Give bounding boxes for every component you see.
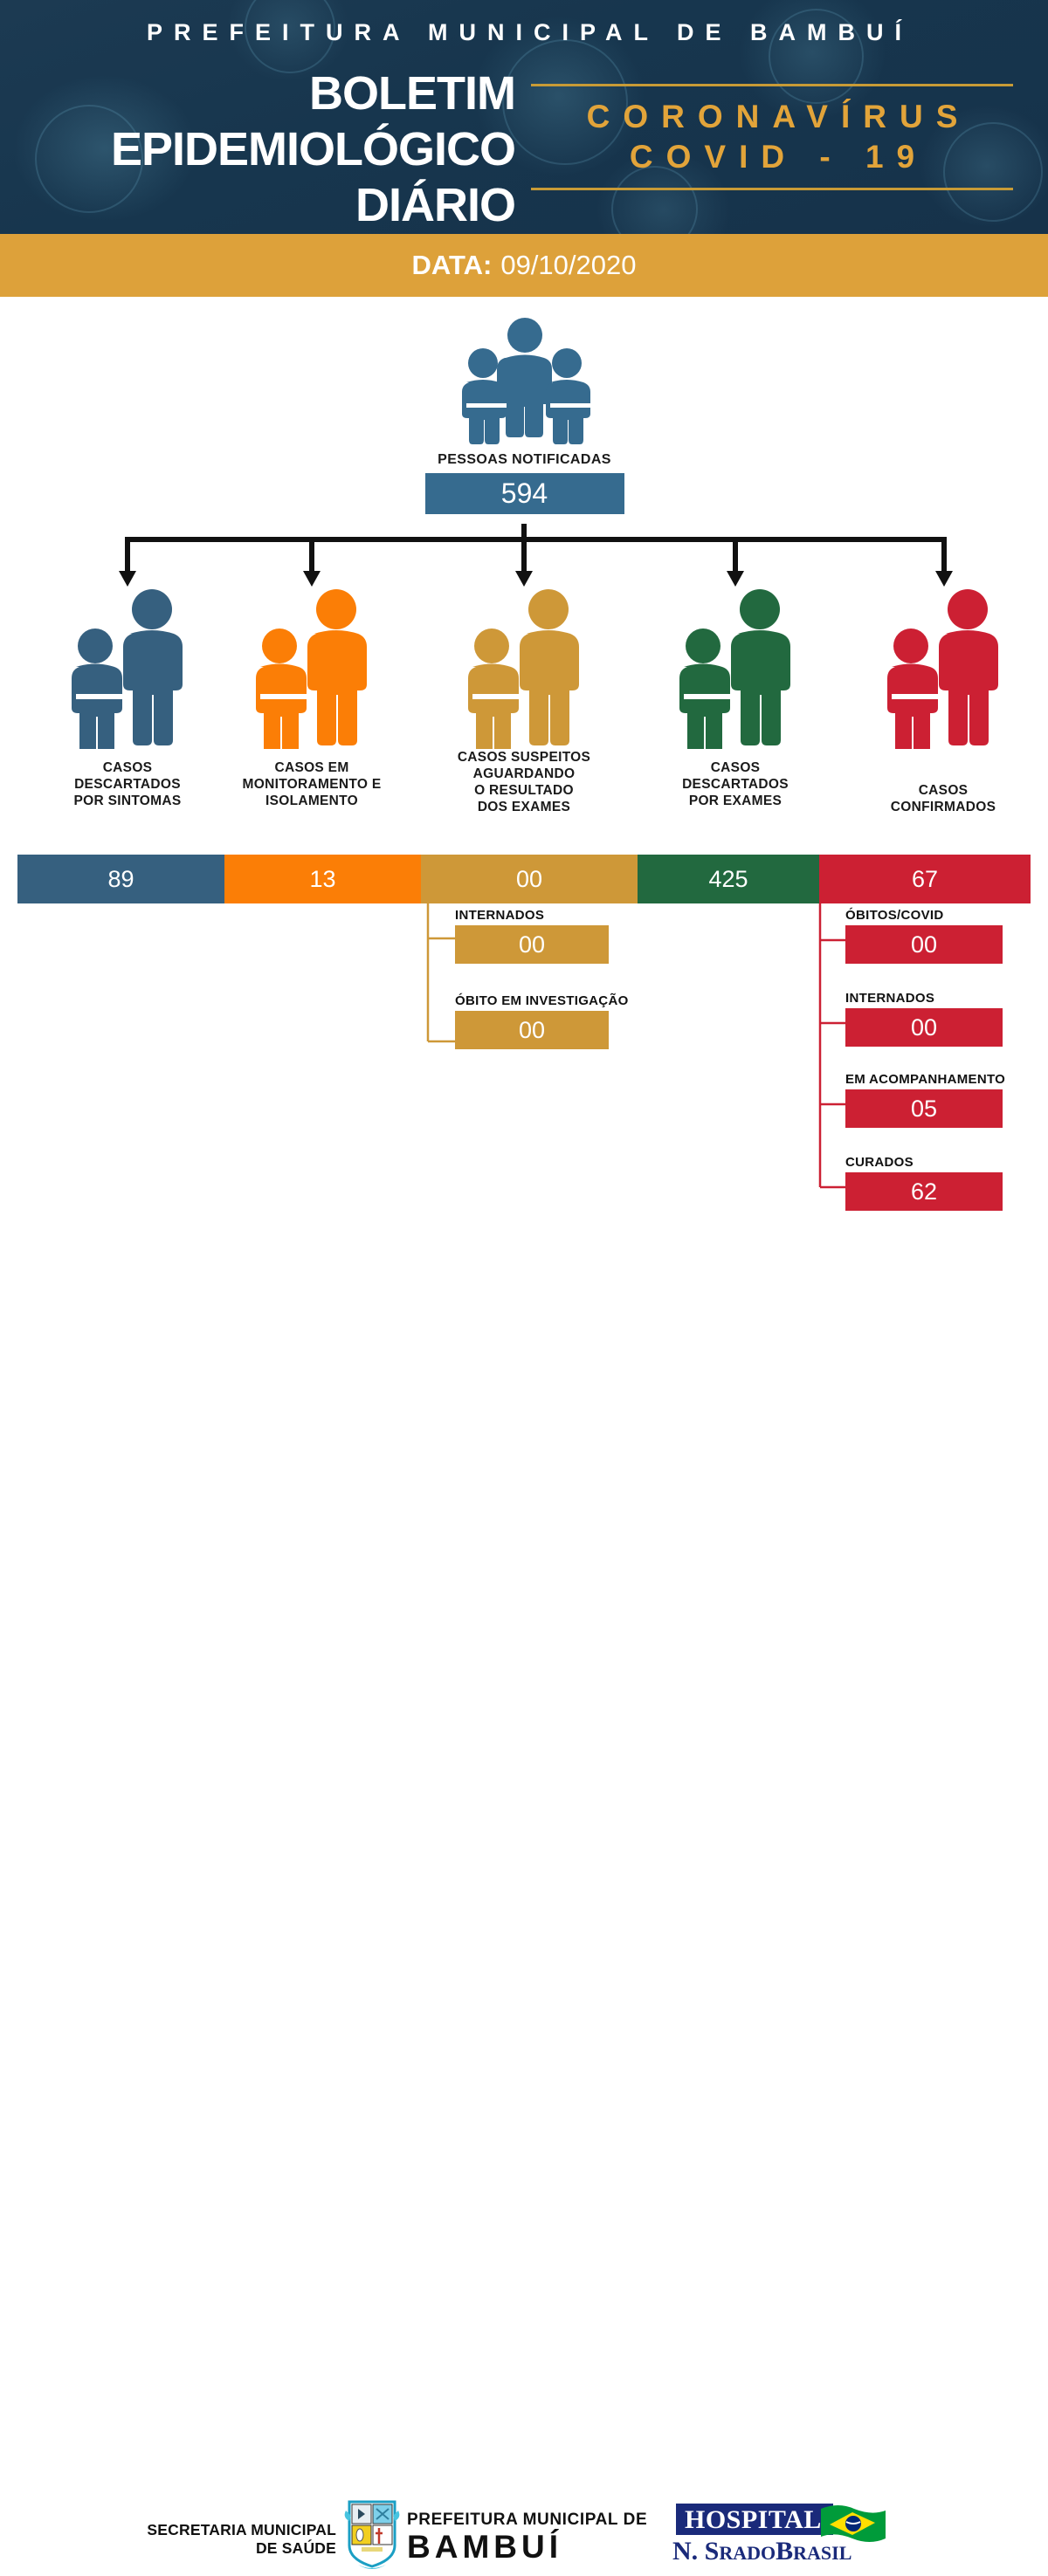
- category-label-line: CASOS: [31, 759, 224, 776]
- health-secretary-logo-text: SECRETARIA MUNICIPAL DE SAÚDE: [122, 2521, 336, 2558]
- covid-subtitle-line-2: COVID - 19: [531, 137, 1013, 177]
- health-secretary-line-1: SECRETARIA MUNICIPAL: [122, 2521, 336, 2539]
- gold-divider-bottom: [531, 188, 1013, 190]
- notified-people-node: PESSOAS NOTIFICADAS 594: [417, 316, 631, 514]
- suspect-detail-obito-investigacao: ÓBITO EM INVESTIGAÇÃO 00: [455, 993, 609, 1049]
- category-label-line: CASOS: [639, 759, 831, 776]
- date-label: DATA:: [412, 250, 493, 281]
- confirmed-detail-value: 62: [845, 1172, 1003, 1211]
- health-secretary-line-2: DE SAÚDE: [122, 2539, 336, 2558]
- brazil-flag-icon: [817, 2502, 887, 2547]
- category-label-line: DESCARTADOS: [639, 776, 831, 793]
- confirmed-detail-obitos-covid: ÓBITOS/COVID 00: [845, 908, 1003, 964]
- page-title: BOLETIM EPIDEMIOLÓGICO DIÁRIO: [26, 65, 515, 233]
- confirmed-detail-value: 05: [845, 1089, 1003, 1128]
- covid-subtitle-line-1: CORONAVÍRUS: [531, 97, 1013, 137]
- value-bar-discarded-exams: 425: [638, 855, 819, 903]
- category-label-line: MONITORAMENTO E: [216, 776, 408, 793]
- suspect-detail-label: ÓBITO EM INVESTIGAÇÃO: [455, 993, 609, 1008]
- category-suspect-awaiting-results: CASOS SUSPEITOS AGUARDANDO O RESULTADO D…: [428, 583, 620, 815]
- organization-title: PREFEITURA MUNICIPAL DE BAMBUÍ: [0, 19, 1048, 46]
- category-label: CASOS SUSPEITOS AGUARDANDO O RESULTADO D…: [428, 749, 620, 815]
- category-label-line: AGUARDANDO: [428, 766, 620, 782]
- two-people-icon: [639, 583, 831, 749]
- two-people-icon: [31, 583, 224, 749]
- confirmed-detail-internados: INTERNADOS 00: [845, 991, 1003, 1047]
- city-hall-line-1: PREFEITURA MUNICIPAL DE: [407, 2511, 652, 2530]
- confirmed-detail-curados: CURADOS 62: [845, 1155, 1003, 1211]
- suspect-detail-value: 00: [455, 925, 609, 964]
- city-hall-logo-text: PREFEITURA MUNICIPAL DE BAMBUÍ: [407, 2511, 652, 2565]
- category-label-line: DOS EXAMES: [428, 799, 620, 815]
- covid-subtitle-block: CORONAVÍRUS COVID - 19: [531, 84, 1013, 190]
- confirmed-detail-label: EM ACOMPANHAMENTO: [845, 1072, 1003, 1087]
- category-label: CASOS DESCARTADOS POR EXAMES: [639, 759, 831, 809]
- two-people-icon: [216, 583, 408, 749]
- bambui-coat-of-arms-icon: [341, 2488, 403, 2572]
- hospital-sub-d: B: [776, 2537, 793, 2566]
- category-label-line: CASOS SUSPEITOS: [428, 749, 620, 766]
- category-confirmed: CASOS CONFIRMADOS: [847, 583, 1039, 815]
- value-bar-discarded-symptoms: 89: [17, 855, 224, 903]
- people-group-icon: [417, 316, 631, 447]
- confirmed-detail-em-acompanhamento: EM ACOMPANHAMENTO 05: [845, 1072, 1003, 1128]
- category-label-line: CASOS: [847, 782, 1039, 799]
- confirmed-detail-value: 00: [845, 925, 1003, 964]
- date-value: 09/10/2020: [500, 250, 636, 281]
- category-label-line: POR SINTOMAS: [31, 793, 224, 809]
- two-people-icon: [847, 583, 1039, 749]
- two-people-icon: [428, 583, 620, 749]
- page-title-line-1: BOLETIM: [26, 65, 515, 121]
- value-bar-confirmed: 67: [819, 855, 1031, 903]
- value-bar-row: 89 13 00 425 67: [17, 855, 1031, 903]
- hospital-sub-a: N. S: [672, 2537, 719, 2566]
- category-label-line: ISOLAMENTO: [216, 793, 408, 809]
- category-discarded-symptoms: CASOS DESCARTADOS POR SINTOMAS: [31, 583, 224, 809]
- confirmed-detail-value: 00: [845, 1008, 1003, 1047]
- category-label-line: CASOS EM: [216, 759, 408, 776]
- category-label-line: POR EXAMES: [639, 793, 831, 809]
- page-title-line-2: EPIDEMIOLÓGICO: [26, 121, 515, 177]
- category-label: CASOS DESCARTADOS POR SINTOMAS: [31, 759, 224, 809]
- category-label: CASOS EM MONITORAMENTO E ISOLAMENTO: [216, 759, 408, 809]
- notified-people-value: 594: [425, 473, 624, 514]
- category-discarded-exams: CASOS DESCARTADOS POR EXAMES: [639, 583, 831, 809]
- hospital-sub-b: RA: [719, 2542, 747, 2564]
- category-label: CASOS CONFIRMADOS: [847, 782, 1039, 815]
- category-label-line: CONFIRMADOS: [847, 799, 1039, 815]
- suspect-detail-internados: INTERNADOS 00: [455, 908, 609, 964]
- suspect-detail-label: INTERNADOS: [455, 908, 609, 923]
- category-monitoring-isolation: CASOS EM MONITORAMENTO E ISOLAMENTO: [216, 583, 408, 809]
- category-row: CASOS DESCARTADOS POR SINTOMAS CASOS EM …: [0, 583, 1048, 845]
- confirmed-detail-label: CURADOS: [845, 1155, 1003, 1170]
- hospital-sub-c: DO: [747, 2542, 776, 2564]
- gold-divider-top: [531, 84, 1013, 86]
- page-header: PREFEITURA MUNICIPAL DE BAMBUÍ BOLETIM E…: [0, 0, 1048, 234]
- hospital-logo-word: HOSPITAL: [685, 2505, 822, 2535]
- page-footer: SECRETARIA MUNICIPAL DE SAÚDE PREFEITURA…: [0, 1238, 1048, 1340]
- confirmed-detail-label: ÓBITOS/COVID: [845, 908, 1003, 923]
- value-bar-monitoring-isolation: 13: [224, 855, 421, 903]
- suspect-detail-value: 00: [455, 1011, 609, 1049]
- category-label-line: O RESULTADO: [428, 782, 620, 799]
- page-title-line-3: DIÁRIO: [26, 177, 515, 233]
- category-label-line: DESCARTADOS: [31, 776, 224, 793]
- hospital-logo: HOSPITAL N. SRADOBRASIL: [671, 2502, 889, 2570]
- confirmed-detail-label: INTERNADOS: [845, 991, 1003, 1006]
- city-hall-line-2: BAMBUÍ: [407, 2530, 652, 2565]
- notified-people-caption: PESSOAS NOTIFICADAS: [417, 452, 631, 468]
- value-bar-suspect-awaiting: 00: [421, 855, 638, 903]
- date-banner: DATA: 09/10/2020: [0, 234, 1048, 297]
